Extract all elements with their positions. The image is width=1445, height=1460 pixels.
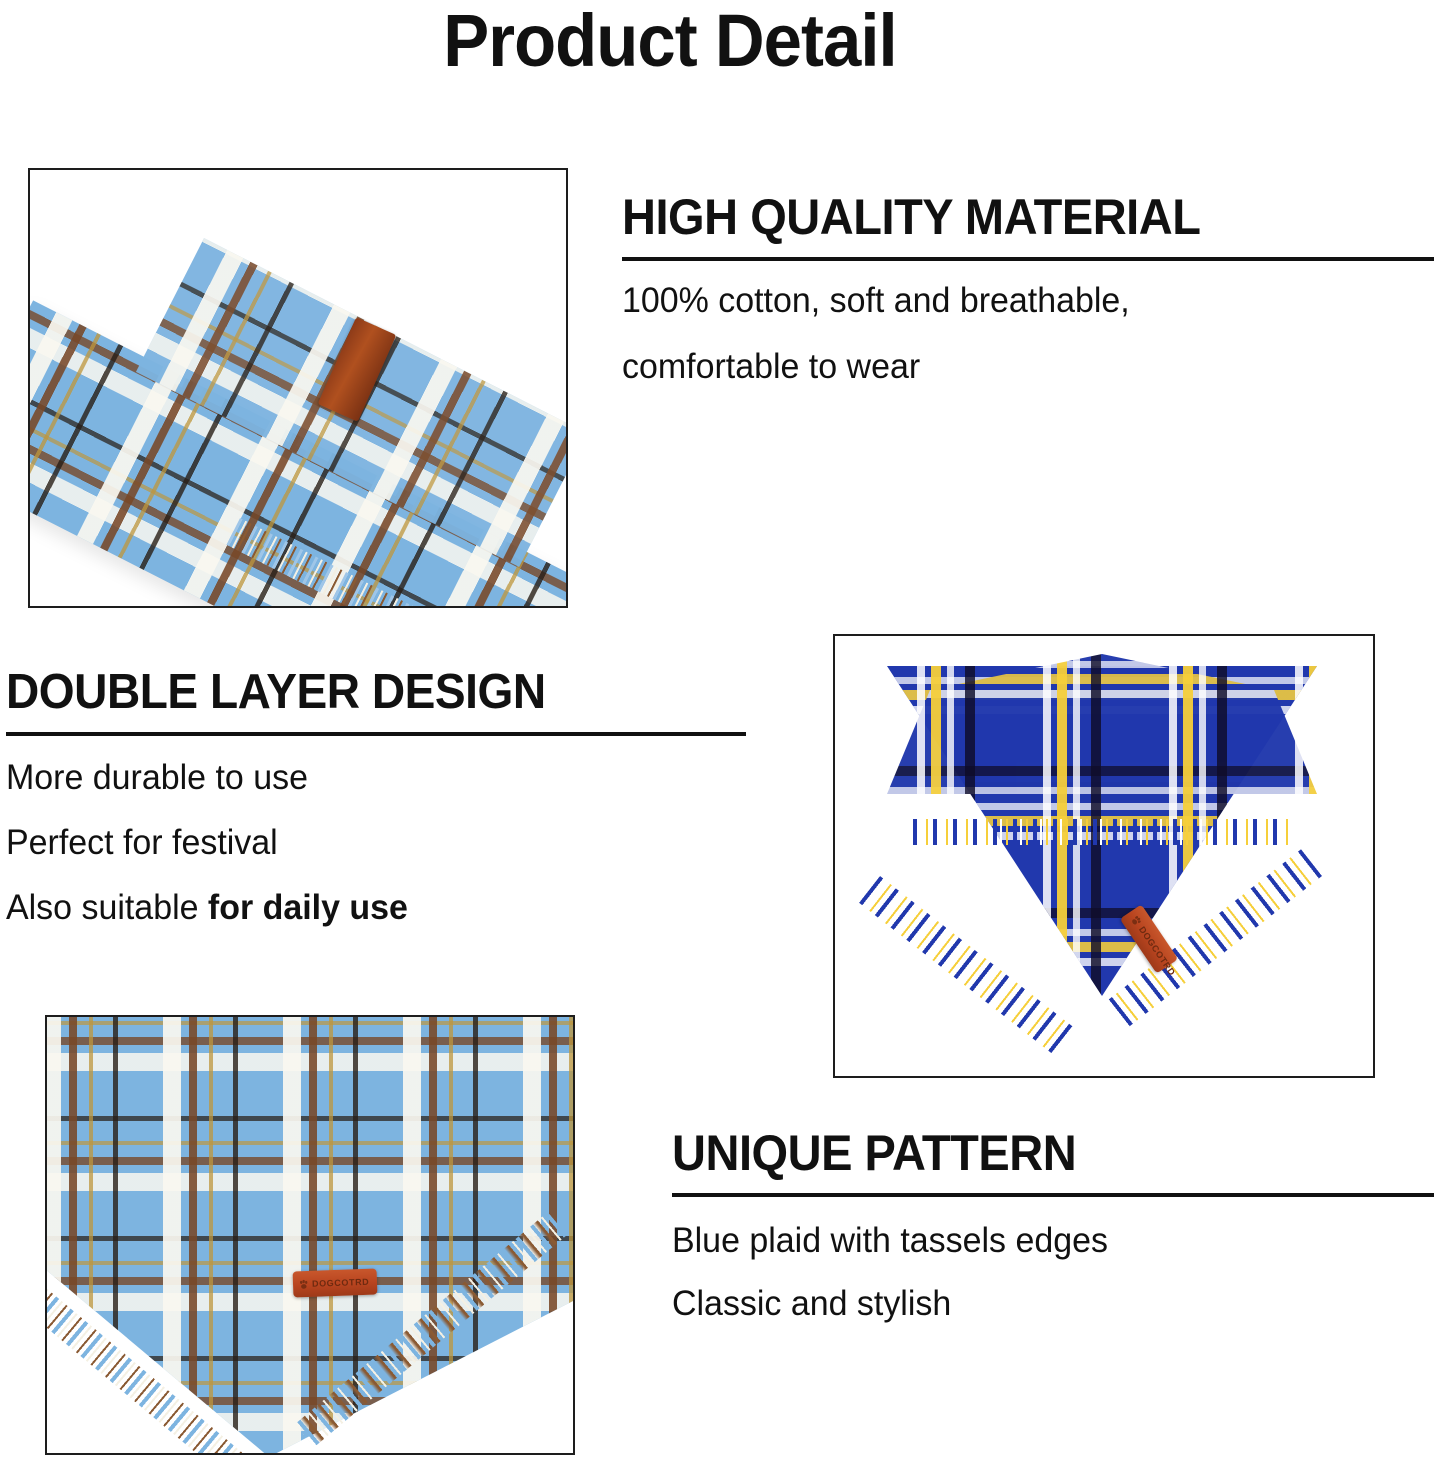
body-line: More durable to use bbox=[6, 760, 724, 795]
section-double-layer-design: DOUBLE LAYER DESIGN More durable to use … bbox=[6, 668, 746, 955]
heading-divider bbox=[622, 257, 1434, 261]
body-line: Perfect for festival bbox=[6, 825, 724, 860]
paw-icon bbox=[298, 1278, 309, 1289]
section-body: 100% cotton, soft and breathable, comfor… bbox=[622, 283, 1434, 384]
bandana-mid-fringe bbox=[913, 819, 1293, 845]
body-line: Also suitable for daily use bbox=[6, 890, 724, 925]
product-photo-blue-bandana: DOGCOTRD bbox=[833, 634, 1375, 1078]
product-photo-folded-scarf bbox=[28, 168, 568, 608]
body-line: 100% cotton, soft and breathable, bbox=[622, 283, 1410, 318]
section-high-quality-material: HIGH QUALITY MATERIAL 100% cotton, soft … bbox=[622, 192, 1434, 384]
product-photo-corner-detail: DOGCOTRD bbox=[45, 1015, 575, 1455]
section-heading: HIGH QUALITY MATERIAL bbox=[622, 192, 1385, 243]
section-heading: UNIQUE PATTERN bbox=[672, 1128, 1388, 1179]
page-title: Product Detail bbox=[47, 2, 1293, 80]
section-unique-pattern: UNIQUE PATTERN Blue plaid with tassels e… bbox=[672, 1128, 1434, 1349]
body-line: comfortable to wear bbox=[622, 349, 1410, 384]
section-heading: DOUBLE LAYER DESIGN bbox=[6, 668, 702, 718]
body-line: Blue plaid with tassels edges bbox=[672, 1223, 1411, 1258]
section-body: More durable to use Perfect for festival… bbox=[6, 760, 746, 925]
body-line-emphasis: for daily use bbox=[208, 888, 408, 927]
brand-tag-text: DOGCOTRD bbox=[1137, 925, 1177, 978]
leather-brand-tag: DOGCOTRD bbox=[293, 1269, 378, 1298]
blue-bandana-image: DOGCOTRD bbox=[835, 636, 1373, 1076]
brand-tag-text: DOGCOTRD bbox=[312, 1277, 370, 1289]
section-body: Blue plaid with tassels edges Classic an… bbox=[672, 1223, 1434, 1321]
folded-scarf-image bbox=[30, 170, 566, 606]
heading-divider bbox=[672, 1193, 1434, 1197]
corner-detail-image: DOGCOTRD bbox=[47, 1017, 573, 1453]
body-line-text: Also suitable bbox=[6, 888, 208, 927]
heading-divider bbox=[6, 732, 746, 736]
product-detail-page: Product Detail DOGCOTRD bbox=[0, 0, 1445, 1460]
body-line: Classic and stylish bbox=[672, 1286, 1411, 1321]
